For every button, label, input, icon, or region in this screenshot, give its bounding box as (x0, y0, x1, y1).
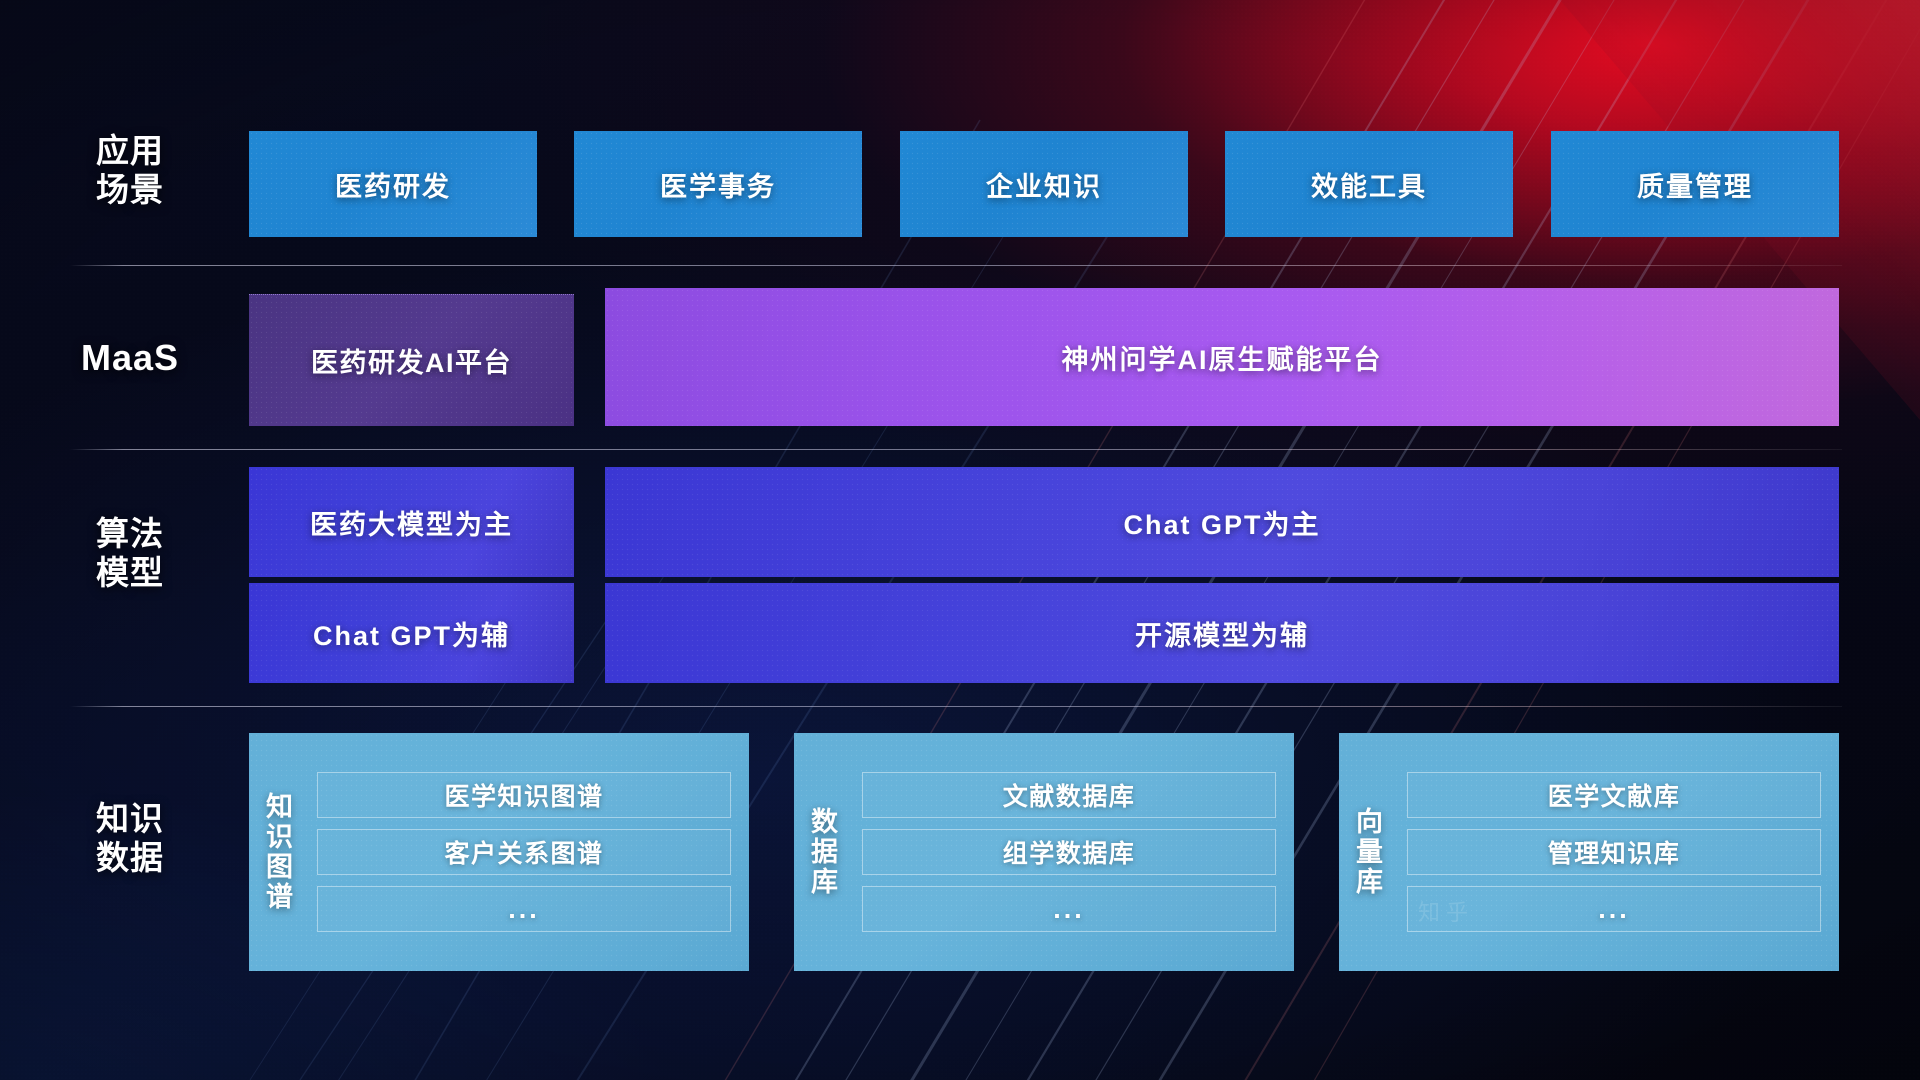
knowledge-item[interactable]: 组学数据库 (862, 829, 1276, 875)
divider-algorithm-knowledge (70, 706, 1842, 707)
knowledge-item[interactable]: 文献数据库 (862, 772, 1276, 818)
divider-application-maas (70, 265, 1842, 266)
knowledge-group-graph-title: 知 识 图 谱 (249, 733, 311, 971)
knowledge-item-more[interactable]: ... (862, 886, 1276, 932)
algo-box-chatgpt-aux[interactable]: Chat GPT为辅 (249, 583, 574, 683)
knowledge-item-more[interactable]: ... (1407, 886, 1821, 932)
algo-box-chatgpt-main[interactable]: Chat GPT为主 (605, 467, 1839, 577)
maas-box-shenzhou-platform-label: 神州问学AI原生赋能平台 (1062, 338, 1383, 377)
knowledge-group-database-items: 文献数据库 组学数据库 ... (856, 733, 1294, 971)
knowledge-item[interactable]: 管理知识库 (1407, 829, 1821, 875)
maas-box-pharma-platform-label: 医药研发AI平台 (311, 341, 512, 380)
algo-box-pharma-main[interactable]: 医药大模型为主 (249, 467, 574, 577)
app-box-2[interactable]: 医学事务 (574, 131, 862, 237)
row-label-algorithm: 算法 模型 (70, 515, 190, 593)
app-box-3-label: 企业知识 (986, 165, 1102, 204)
app-box-4-label: 效能工具 (1311, 165, 1427, 204)
knowledge-group-vector[interactable]: 向 量 库 医学文献库 管理知识库 ... (1339, 733, 1839, 971)
row-label-maas: MaaS (70, 337, 190, 379)
app-box-5[interactable]: 质量管理 (1551, 131, 1839, 237)
app-box-3[interactable]: 企业知识 (900, 131, 1188, 237)
architecture-diagram: 应用 场景 医药研发 医学事务 企业知识 效能工具 质量管理 MaaS 医药研发… (0, 0, 1920, 1080)
app-box-5-label: 质量管理 (1637, 165, 1753, 204)
row-label-knowledge: 知识 数据 (70, 800, 190, 878)
knowledge-group-graph-items: 医学知识图谱 客户关系图谱 ... (311, 733, 749, 971)
algo-box-opensource-aux-label: 开源模型为辅 (1135, 614, 1309, 653)
maas-box-pharma-platform[interactable]: 医药研发AI平台 (249, 294, 574, 426)
row-label-application: 应用 场景 (70, 132, 190, 210)
knowledge-group-vector-items: 医学文献库 管理知识库 ... (1401, 733, 1839, 971)
knowledge-group-graph[interactable]: 知 识 图 谱 医学知识图谱 客户关系图谱 ... (249, 733, 749, 971)
knowledge-item[interactable]: 医学文献库 (1407, 772, 1821, 818)
divider-maas-algorithm (70, 449, 1842, 450)
app-box-4[interactable]: 效能工具 (1225, 131, 1513, 237)
knowledge-group-database[interactable]: 数 据 库 文献数据库 组学数据库 ... (794, 733, 1294, 971)
maas-box-shenzhou-platform[interactable]: 神州问学AI原生赋能平台 (605, 288, 1839, 426)
app-box-1[interactable]: 医药研发 (249, 131, 537, 237)
app-box-2-label: 医学事务 (660, 165, 776, 204)
knowledge-item[interactable]: 医学知识图谱 (317, 772, 731, 818)
app-box-1-label: 医药研发 (335, 165, 451, 204)
knowledge-item-more[interactable]: ... (317, 886, 731, 932)
knowledge-group-database-title: 数 据 库 (794, 733, 856, 971)
knowledge-item[interactable]: 客户关系图谱 (317, 829, 731, 875)
algo-box-pharma-main-label: 医药大模型为主 (310, 503, 513, 542)
algo-box-chatgpt-aux-label: Chat GPT为辅 (313, 614, 510, 653)
algo-box-opensource-aux[interactable]: 开源模型为辅 (605, 583, 1839, 683)
algo-box-chatgpt-main-label: Chat GPT为主 (1123, 503, 1320, 542)
knowledge-group-vector-title: 向 量 库 (1339, 733, 1401, 971)
